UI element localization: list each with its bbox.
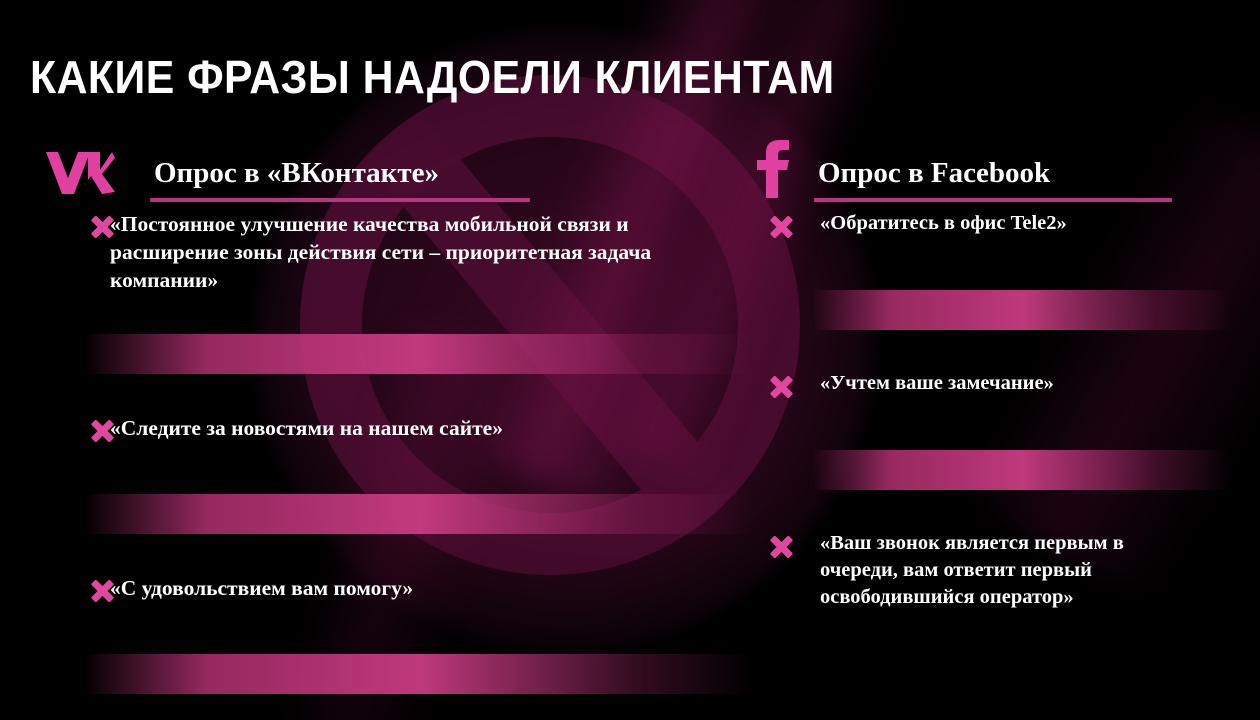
quote-text: «С удовольствием вам помогу» [110, 574, 734, 602]
spacer [752, 410, 1172, 450]
spacer [752, 490, 1172, 530]
quote-list-vk: «Постоянное улучшение качества мобильной… [44, 210, 734, 720]
quote-text: «Следите за новостями на нашем сайте» [110, 414, 734, 442]
list-item: «Следите за новостями на нашем сайте» [44, 414, 734, 454]
list-item: «Ваш звонок является первым в очереди, в… [752, 530, 1172, 611]
x-cross-icon [768, 214, 794, 240]
quote-text: «Постоянное улучшение качества мобильной… [110, 210, 734, 294]
quote-text: «Обратитесь в офис Tele2» [820, 210, 1172, 237]
column-title-rule [814, 198, 1172, 202]
x-cross-icon [89, 214, 115, 240]
list-item: «Учтем ваше замечание» [752, 370, 1172, 410]
facebook-logo-icon [752, 140, 792, 198]
spacer [44, 694, 734, 720]
x-cross-icon [768, 374, 794, 400]
spacer [44, 614, 734, 654]
spacer [44, 534, 734, 574]
survey-column-facebook: Опрос в Facebook «Обратитесь в офис Tele… [752, 146, 1172, 611]
column-header-vk: Опрос в «ВКонтакте» [44, 146, 734, 210]
list-divider [88, 494, 754, 534]
list-item: «Обратитесь в офис Tele2» [752, 210, 1172, 250]
x-cross-icon [89, 578, 115, 604]
list-divider [88, 654, 754, 694]
quote-list-facebook: «Обратитесь в офис Tele2» «Учтем ваше за… [752, 210, 1172, 611]
spacer [44, 374, 734, 414]
spacer [752, 330, 1172, 370]
vk-logo-icon [44, 148, 116, 198]
x-cross-icon [768, 534, 794, 560]
x-cross-icon [89, 418, 115, 444]
spacer [44, 294, 734, 334]
column-title-vk: Опрос в «ВКонтакте» [154, 156, 439, 190]
column-header-facebook: Опрос в Facebook [752, 146, 1172, 210]
list-item: «С удовольствием вам помогу» [44, 574, 734, 614]
column-title-rule [150, 198, 530, 202]
list-divider [814, 450, 1232, 490]
page-title: КАКИЕ ФРАЗЫ НАДОЕЛИ КЛИЕНТАМ [30, 51, 835, 103]
list-divider [88, 334, 754, 374]
list-item: «Постоянное улучшение качества мобильной… [44, 210, 734, 294]
slide-root: КАКИЕ ФРАЗЫ НАДОЕЛИ КЛИЕНТАМ Опрос в «ВК… [0, 0, 1260, 720]
quote-text: «Учтем ваше замечание» [820, 370, 1172, 397]
column-title-facebook: Опрос в Facebook [818, 156, 1050, 190]
survey-column-vk: Опрос в «ВКонтакте» «Постоянное улучшени… [44, 146, 734, 720]
spacer [44, 454, 734, 494]
list-divider [814, 290, 1232, 330]
spacer [752, 250, 1172, 290]
quote-text: «Ваш звонок является первым в очереди, в… [820, 530, 1172, 611]
